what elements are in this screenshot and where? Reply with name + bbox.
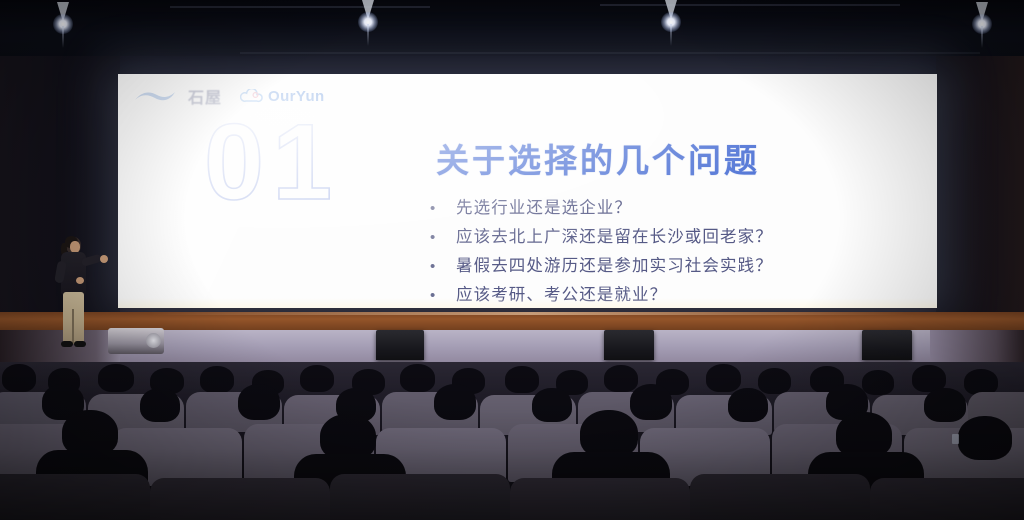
wave-icon xyxy=(134,89,176,104)
audience-member xyxy=(238,384,280,420)
audience-member xyxy=(98,364,134,392)
audience-member xyxy=(2,364,36,392)
audience-member xyxy=(728,388,768,422)
audience-member xyxy=(532,388,572,422)
seat xyxy=(870,478,1024,520)
auditorium-photo: 石屋 OurYun 01 关于选择的几个问题 • 先选行业还是选企业？ • xyxy=(0,0,1024,520)
seat xyxy=(150,478,330,520)
audience-member xyxy=(758,368,791,394)
audience-member xyxy=(300,365,334,392)
slide-bullet-list: • 先选行业还是选企业？ • 应该去北上广深还是留在长沙或回老家？ • 暑假去四… xyxy=(430,194,773,308)
audience-member xyxy=(400,364,435,392)
presenter xyxy=(52,237,98,345)
ceiling-light-icon xyxy=(967,2,997,28)
slide-title: 关于选择的几个问题 xyxy=(436,134,760,182)
projection-screen: 石屋 OurYun 01 关于选择的几个问题 • 先选行业还是选企业？ • xyxy=(118,74,937,308)
audience-member xyxy=(958,416,1012,460)
stage-band-highlight xyxy=(150,312,910,315)
bullet-marker: • xyxy=(430,230,456,245)
seat xyxy=(330,474,510,520)
ceiling-light-icon xyxy=(353,0,383,26)
audience-member xyxy=(505,366,539,393)
audience-member xyxy=(434,384,476,420)
bullet-marker: • xyxy=(430,201,456,216)
seat xyxy=(0,474,150,520)
stage-equipment-lens-icon xyxy=(146,333,161,348)
audience-member xyxy=(924,388,966,422)
screen-bottom-glow xyxy=(118,298,937,308)
bullet-text: 应该去北上广深还是留在长沙或回老家？ xyxy=(456,223,773,247)
bullet-text: 暑假去四处游历还是参加实习社会实践？ xyxy=(456,252,773,276)
stage-monitor-speaker xyxy=(604,330,654,360)
audience-member xyxy=(200,366,234,393)
seat xyxy=(690,474,870,520)
right-wall xyxy=(936,56,1024,318)
seat xyxy=(510,478,690,520)
list-item: • 先选行业还是选企业？ xyxy=(430,194,773,218)
ceiling-truss-3 xyxy=(240,52,980,54)
audience-member xyxy=(140,388,180,422)
ceiling-truss-1 xyxy=(170,6,430,8)
list-item: • 暑假去四处游历还是参加实习社会实践？ xyxy=(430,252,773,276)
audience-member xyxy=(604,365,638,392)
presentation-slide: 石屋 OurYun 01 关于选择的几个问题 • 先选行业还是选企业？ • xyxy=(118,74,937,308)
stage-monitor-speaker xyxy=(376,330,424,360)
ceiling-truss-2 xyxy=(600,4,900,6)
audience-member xyxy=(580,410,638,458)
phone-screen xyxy=(952,434,959,444)
ceiling-light-icon xyxy=(656,0,686,26)
bullet-text: 先选行业还是选企业？ xyxy=(456,194,632,218)
ceiling-light-icon xyxy=(48,2,78,28)
list-item: • 应该去北上广深还是留在长沙或回老家？ xyxy=(430,223,773,247)
audience-seating xyxy=(0,362,1024,520)
bullet-marker: • xyxy=(430,259,456,274)
section-number: 01 xyxy=(204,108,340,216)
audience-member xyxy=(706,364,741,392)
stage-monitor-speaker xyxy=(862,330,912,360)
audience-member xyxy=(630,384,672,420)
audience-member xyxy=(862,370,894,395)
